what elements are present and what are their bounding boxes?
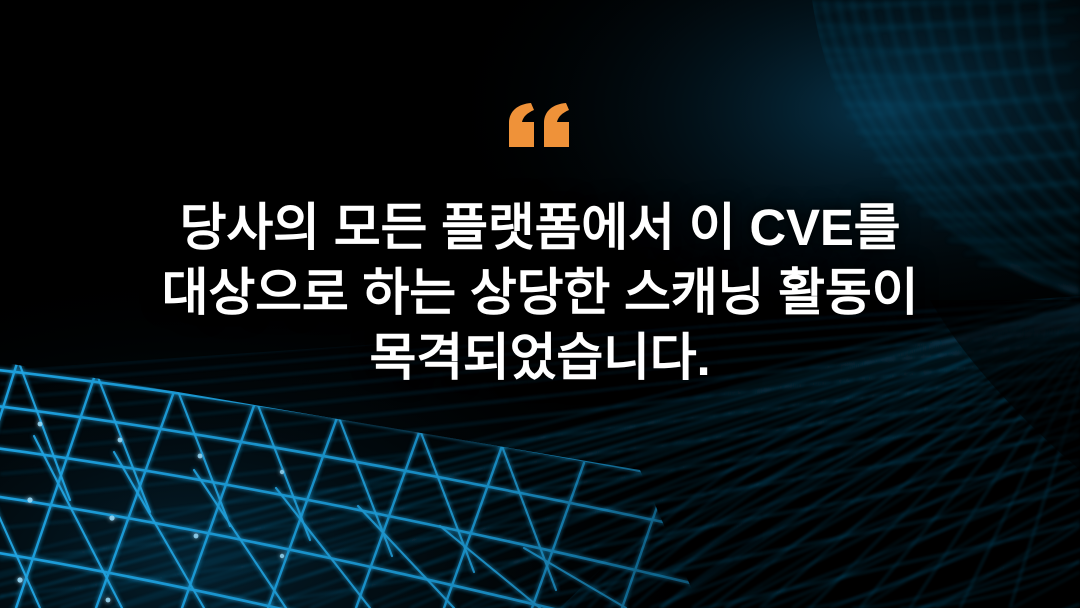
quote-line-3: 목격되었습니다. xyxy=(0,325,1080,390)
quote-slide: 당사의 모든 플랫폼에서 이 CVE를 대상으로 하는 상당한 스캐닝 활동이 … xyxy=(0,0,1080,608)
quote-line-1: 당사의 모든 플랫폼에서 이 CVE를 xyxy=(0,195,1080,260)
quote-line-2: 대상으로 하는 상당한 스캐닝 활동이 xyxy=(0,260,1080,325)
quote-text: 당사의 모든 플랫폼에서 이 CVE를 대상으로 하는 상당한 스캐닝 활동이 … xyxy=(0,195,1080,390)
open-quote-icon xyxy=(506,103,574,161)
quote-content: 당사의 모든 플랫폼에서 이 CVE를 대상으로 하는 상당한 스캐닝 활동이 … xyxy=(0,0,1080,608)
